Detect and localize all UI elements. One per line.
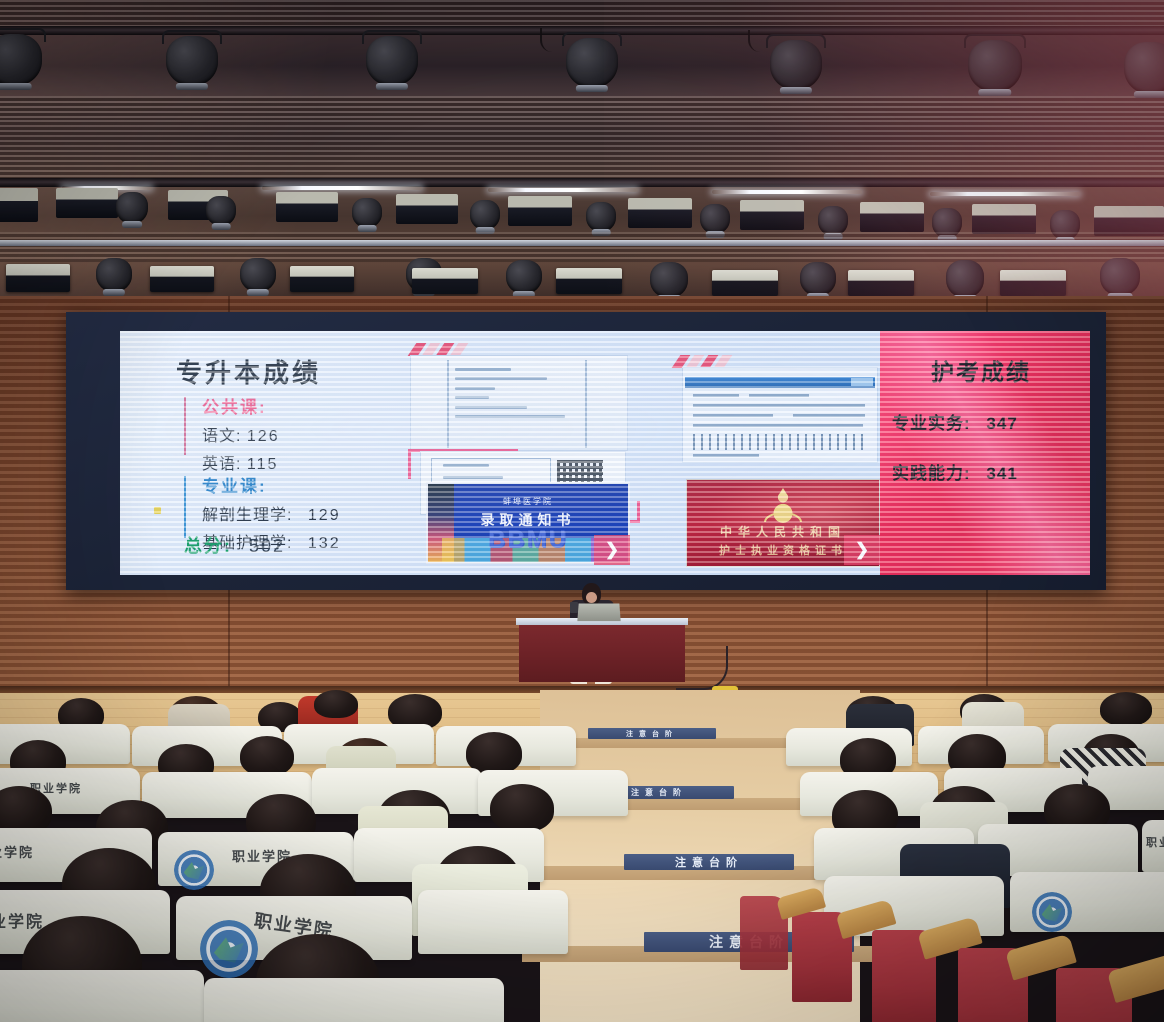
next-arrow-button[interactable]: ❯ (844, 535, 880, 565)
score-value: 341 (986, 464, 1017, 483)
score-label: 解剖生理学: (202, 507, 292, 524)
ceiling-lamp-box (6, 264, 70, 292)
ceiling-led-strip (262, 186, 422, 190)
laptop[interactable] (577, 603, 620, 621)
chair-cover (0, 970, 204, 1022)
ceiling-lamp-box (150, 266, 214, 292)
next-arrow-button[interactable]: ❯ (594, 535, 630, 565)
slide-left-panel: 专升本成绩 公共课: 语文: 126 英语: 115 专业课: (120, 331, 880, 575)
notice-school-name: 蚌埠医学院 (428, 496, 628, 507)
spotlight-yoke (362, 30, 422, 44)
stage-spotlight (116, 192, 148, 224)
web-titlebar (685, 377, 875, 388)
total-label: 总分: (184, 536, 232, 556)
score-value: 347 (986, 414, 1017, 433)
floor-cable (676, 646, 728, 690)
chair-cover-text: 职业学院 (1146, 834, 1164, 850)
ceiling-lamp-box (290, 266, 354, 292)
score-label: 语文: (202, 428, 241, 445)
score-group-public: 公共课: 语文: 126 英语: 115 (184, 393, 280, 474)
score-value: 126 (247, 428, 280, 445)
web-button (851, 378, 873, 386)
spotlight-yoke (0, 28, 46, 42)
stage-spotlight (240, 258, 276, 292)
group-heading: 公共课: (202, 393, 280, 418)
presenter-desk (519, 620, 685, 682)
presenter-face (586, 592, 597, 603)
score-value: 132 (308, 535, 341, 552)
slide-left-title: 专升本成绩 (176, 353, 321, 390)
chair-cover (1010, 872, 1164, 932)
nursing-score-row: 专业实务: 347 (892, 409, 1018, 434)
audience-head (490, 784, 554, 832)
total-score: 总分: 502 (184, 532, 285, 558)
total-value: 502 (249, 536, 285, 556)
ceiling-floodlight (508, 196, 572, 226)
chair-cover-text: 职业学院 (0, 908, 44, 932)
chair-cover (204, 978, 504, 1022)
slide-right-title: 护考成绩 (886, 353, 1076, 387)
ceiling-floodlight (276, 192, 338, 222)
score-value: 115 (247, 456, 279, 473)
ceiling-floodlight (0, 188, 38, 222)
step-warning-label: 注意台阶 (624, 854, 794, 870)
mug (570, 602, 578, 613)
ceiling-pink-wash (604, 0, 1164, 300)
stage-spotlight (96, 258, 132, 292)
score-label: 实践能力: (892, 464, 971, 483)
score-row: 解剖生理学: 129 (202, 501, 341, 525)
chair-cover (418, 890, 568, 954)
led-screen[interactable]: 专升本成绩 公共课: 语文: 126 英语: 115 专业课: (120, 331, 1090, 575)
college-logo (1032, 892, 1072, 932)
stage-spotlight (506, 260, 542, 294)
rig-cable (540, 28, 610, 52)
nursing-score-row: 实践能力: 341 (892, 459, 1018, 484)
ceiling-rig (0, 0, 1164, 300)
audience-head (314, 690, 358, 718)
audience-head (1100, 692, 1152, 726)
ceiling-floodlight (56, 188, 118, 218)
chair-cover-text: 职业学院 (0, 842, 34, 861)
auditorium-scene: 专升本成绩 公共课: 语文: 126 英语: 115 专业课: (0, 0, 1164, 1022)
spotlight-yoke (162, 30, 222, 44)
slide-right-panel: 护考成绩 专业实务: 347 实践能力: 341 (880, 331, 1090, 575)
chair-cover: 职业学院 (1142, 820, 1164, 872)
ceiling-lamp-box (412, 268, 478, 294)
score-label: 英语: (202, 456, 241, 473)
document-screenshot (410, 355, 628, 451)
stage-spotlight (206, 196, 236, 226)
score-row: 英语: 115 (202, 450, 280, 474)
national-emblem-icon (760, 486, 806, 524)
stage-spotlight (352, 198, 382, 228)
stage-spotlight (470, 200, 500, 230)
college-logo (200, 920, 258, 978)
audience-head (240, 736, 294, 776)
college-logo (174, 850, 214, 890)
ceiling-floodlight (396, 194, 458, 224)
group-accent-bar (184, 397, 186, 455)
seat-armrest (1107, 953, 1164, 1003)
audience-area: 注意台阶 注意台阶 注意台阶 注意台阶 职业学院 (0, 690, 1164, 1022)
group-accent-bar (184, 476, 186, 538)
group-heading: 专业课: (202, 472, 341, 497)
web-screenshot (682, 367, 878, 463)
step-warning-label: 注意台阶 (588, 728, 716, 739)
score-row: 语文: 126 (202, 422, 280, 446)
score-value: 129 (308, 507, 341, 524)
bullet-marker (154, 507, 161, 514)
score-label: 专业实务: (892, 414, 971, 433)
